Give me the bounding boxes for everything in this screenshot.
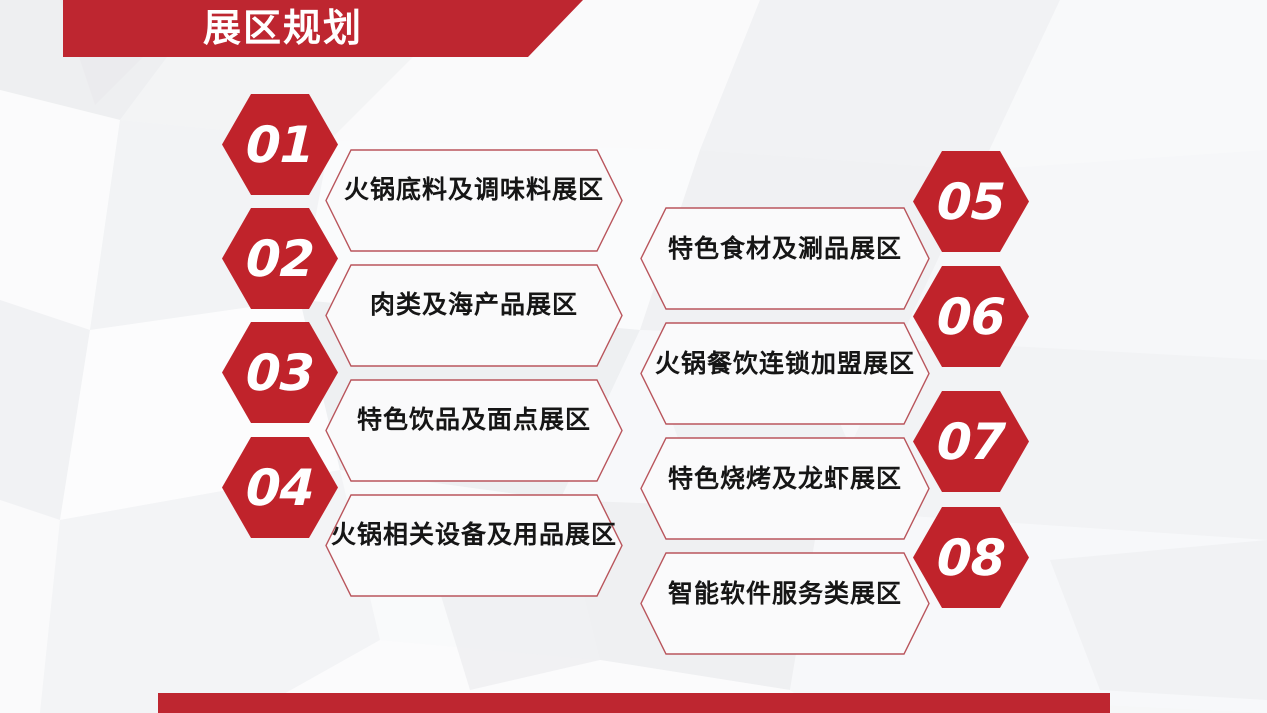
list-item-label: 特色饮品及面点展区 — [325, 379, 623, 482]
page-title: 展区规划 — [203, 4, 463, 54]
list-item-label: 智能软件服务类展区 — [640, 552, 930, 655]
list-item-label: 特色食材及涮品展区 — [640, 207, 930, 310]
list-item[interactable]: 肉类及海产品展区 — [325, 264, 623, 367]
list-item-label: 火锅相关设备及用品展区 — [325, 494, 623, 597]
bottom-accent-bar — [158, 693, 1110, 713]
list-item-label: 火锅底料及调味料展区 — [325, 149, 623, 252]
list-item[interactable]: 特色食材及涮品展区 — [640, 207, 930, 310]
step-number: 01 — [245, 120, 314, 170]
list-item[interactable]: 特色烧烤及龙虾展区 — [640, 437, 930, 540]
list-item-label: 肉类及海产品展区 — [325, 264, 623, 367]
step-number: 03 — [245, 348, 314, 398]
list-item[interactable]: 火锅底料及调味料展区 — [325, 149, 623, 252]
background-polygon-texture — [0, 0, 1267, 713]
list-item[interactable]: 特色饮品及面点展区 — [325, 379, 623, 482]
step-number: 08 — [936, 533, 1005, 583]
step-number: 02 — [245, 234, 314, 284]
step-number: 07 — [936, 417, 1005, 467]
list-item-label: 特色烧烤及龙虾展区 — [640, 437, 930, 540]
step-number: 04 — [245, 463, 314, 513]
step-number: 06 — [936, 292, 1005, 342]
list-item[interactable]: 火锅餐饮连锁加盟展区 — [640, 322, 930, 425]
slide-canvas: 展区规划 火锅底料及调味料展区 肉类及海产品展区 特色饮品及面点展区 火锅相关设… — [0, 0, 1267, 713]
step-number: 05 — [936, 177, 1005, 227]
list-item-label: 火锅餐饮连锁加盟展区 — [640, 322, 930, 425]
list-item[interactable]: 火锅相关设备及用品展区 — [325, 494, 623, 597]
list-item[interactable]: 智能软件服务类展区 — [640, 552, 930, 655]
